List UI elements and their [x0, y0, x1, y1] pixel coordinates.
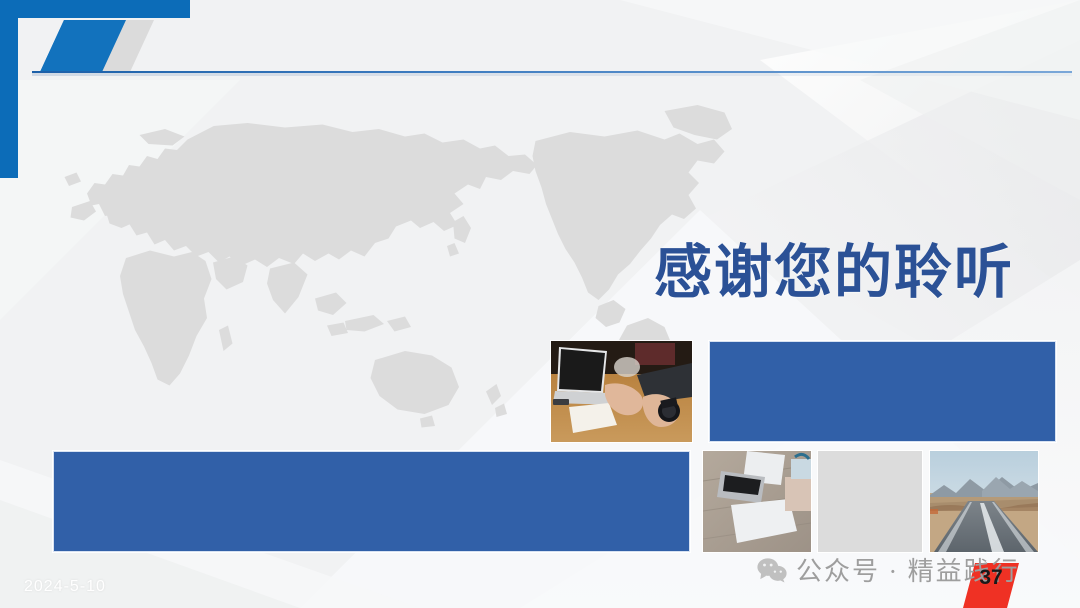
parallelogram-logo: [30, 16, 170, 78]
accent-bar-left: [0, 0, 18, 178]
slide-date: 2024-5-10: [24, 578, 106, 596]
blue-block-right: [709, 341, 1056, 442]
page-number: 37: [963, 566, 1019, 590]
header-rule-shadow: [32, 73, 1072, 76]
presentation-slide: 感谢您的聆听: [0, 0, 1080, 608]
photo-road: [930, 451, 1038, 552]
photo-desk-laptop: [703, 451, 811, 552]
header-rule: [32, 71, 1072, 73]
blue-block-left: [53, 451, 690, 552]
gray-placeholder-block: [818, 451, 922, 552]
photo-laptop-hands: [551, 341, 692, 442]
page-title: 感谢您的聆听: [654, 243, 1014, 304]
